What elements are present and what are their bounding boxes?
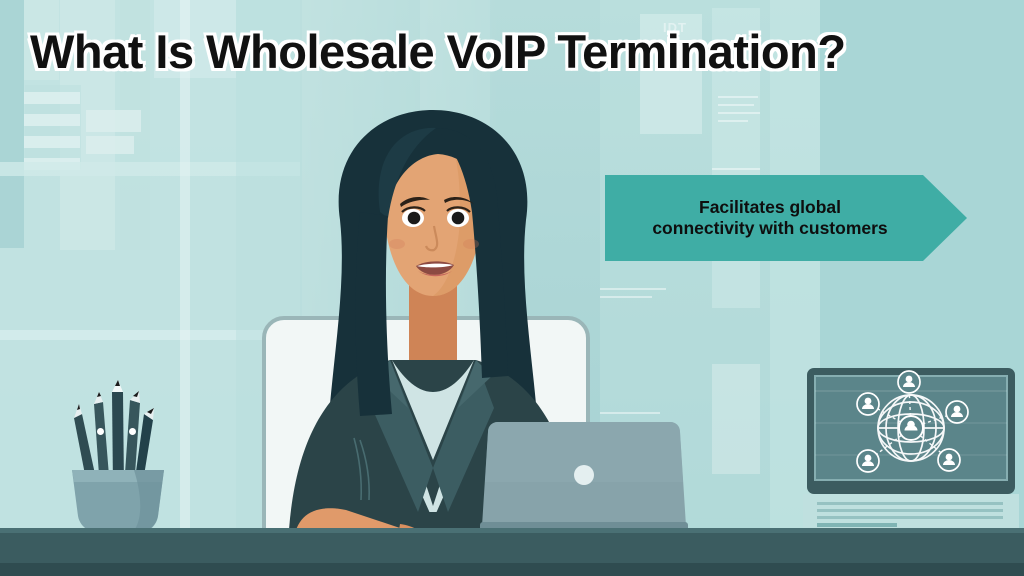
- background-detail-line: [718, 96, 758, 98]
- background-detail-line: [600, 296, 652, 298]
- background-shelf-block: [0, 0, 24, 248]
- background-detail-line: [600, 288, 666, 290]
- background-detail-line: [718, 112, 760, 114]
- background-pillar: [180, 0, 190, 576]
- background-detail-line: [718, 120, 748, 122]
- background-detail-line: [718, 104, 754, 106]
- page-title: What Is Wholesale VoIP Termination?: [30, 24, 846, 79]
- background-shelf-row: [24, 136, 80, 148]
- callout-line-1: Facilitates global: [652, 197, 887, 218]
- background-shelf-row: [24, 92, 80, 104]
- background-detail-panel: [712, 364, 760, 474]
- background-detail-line: [600, 412, 660, 414]
- desk-surface: [0, 533, 1024, 563]
- desktop-monitor: [803, 368, 1019, 538]
- callout-text: Facilitates global connectivity with cus…: [605, 175, 935, 261]
- callout-line-2: connectivity with customers: [652, 218, 887, 239]
- laptop: [480, 422, 688, 537]
- background-detail-line: [712, 168, 760, 170]
- desk-front-panel: [0, 563, 1024, 576]
- background-book-block: [86, 136, 134, 154]
- background-book-block: [86, 110, 141, 132]
- callout-arrow-banner: Facilitates global connectivity with cus…: [605, 175, 967, 261]
- infographic-slide: IDT: [0, 0, 1024, 576]
- background-shelf-row: [24, 114, 80, 126]
- pencil-cup: [58, 370, 178, 538]
